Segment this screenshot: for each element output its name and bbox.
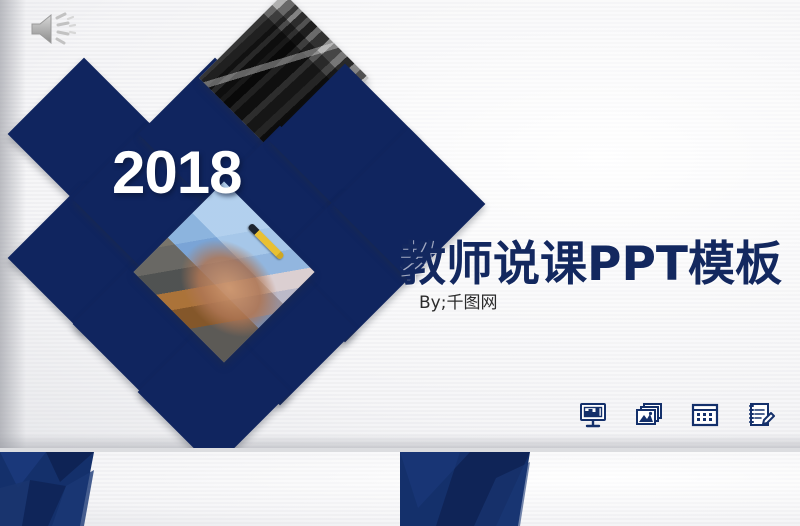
notepad-pen-icon[interactable] [746,400,776,430]
content-slide-preview[interactable]: 1 此处添加标题 单击此处添加文字单击此处添加文字 [0,452,800,526]
photo-stack-icon[interactable] [634,400,664,430]
year-label: 2018 [112,138,241,207]
icon-row [578,400,800,430]
page-title: 教师说课PPT模板 [399,225,782,294]
polygon-decoration-left [0,452,94,526]
calendar-grid-icon[interactable] [690,400,720,430]
slide-viewer[interactable]: 2018 教师说课PPT模板 By;千图网 [0,0,800,526]
polygon-decoration-right [400,452,530,526]
page-subtitle: By;千图网 [419,288,497,313]
presentation-chart-icon[interactable] [578,400,608,430]
diamond-mosaic [0,0,800,448]
title-slide[interactable]: 2018 教师说课PPT模板 By;千图网 [0,0,800,448]
